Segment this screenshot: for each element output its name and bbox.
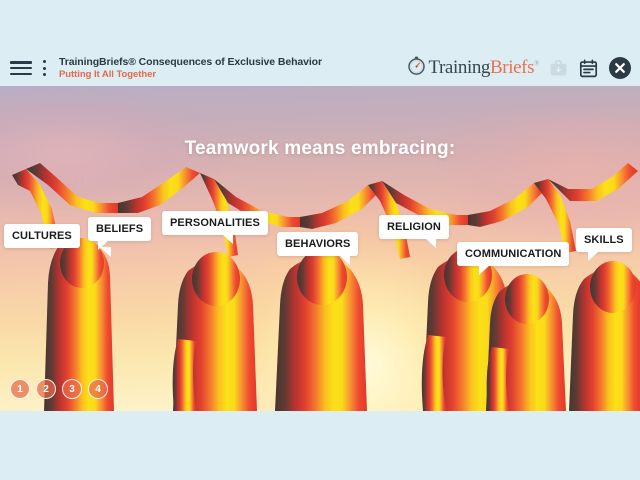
page-dot-label: 1: [17, 384, 23, 395]
speech-bubble-behaviors[interactable]: BEHAVIORS: [277, 232, 358, 256]
stopwatch-icon: [406, 55, 427, 81]
people-silhouettes-illustration: [0, 151, 640, 411]
page-dot-1[interactable]: 1: [10, 379, 30, 399]
speech-bubble-tail: [479, 265, 490, 275]
course-title: TrainingBriefs® Consequences of Exclusiv…: [59, 56, 322, 68]
course-subtitle: Putting It All Together: [59, 69, 322, 80]
hamburger-menu-icon[interactable]: [10, 61, 32, 75]
slide-canvas: Teamwork means embracing:: [0, 86, 640, 411]
course-title-block: TrainingBriefs® Consequences of Exclusiv…: [59, 56, 322, 80]
hamburger-line: [10, 73, 32, 76]
page-dot-label: 3: [69, 384, 75, 395]
speech-bubble-communication[interactable]: COMMUNICATION: [457, 242, 569, 266]
speech-bubble-religion[interactable]: RELIGION: [379, 215, 449, 239]
speech-bubble-tail: [98, 240, 109, 250]
trainingbriefs-logo: TrainingBriefs®: [406, 55, 539, 81]
kebab-dot: [43, 67, 46, 70]
page-dot-2[interactable]: 2: [36, 379, 56, 399]
speech-bubble-label: COMMUNICATION: [465, 248, 561, 260]
page-dot-label: 4: [95, 384, 101, 395]
page-dot-4[interactable]: 4: [88, 379, 108, 399]
brand-word-briefs: Briefs: [490, 57, 534, 78]
speech-bubble-label: BEHAVIORS: [285, 238, 350, 250]
speech-bubble-personalities[interactable]: PERSONALITIES: [162, 211, 268, 235]
close-icon[interactable]: [608, 56, 632, 80]
header-right-group: TrainingBriefs®: [406, 50, 632, 86]
registered-mark: ®: [534, 60, 539, 68]
notes-calendar-icon[interactable]: [578, 58, 599, 79]
page-indicator: 1234: [10, 379, 108, 399]
speech-bubble-cultures[interactable]: CULTURES: [4, 224, 80, 248]
speech-bubble-tail: [339, 255, 350, 265]
hamburger-line: [10, 67, 32, 70]
speech-bubble-label: BELIEFS: [96, 223, 143, 235]
brand-wordmark: TrainingBriefs®: [428, 57, 539, 79]
more-options-icon[interactable]: [38, 60, 50, 76]
course-player: TrainingBriefs® Consequences of Exclusiv…: [0, 0, 640, 480]
speech-bubble-label: PERSONALITIES: [170, 217, 260, 229]
page-dot-3[interactable]: 3: [62, 379, 82, 399]
speech-bubble-tail: [425, 238, 436, 248]
brand-word-training: Training: [428, 57, 490, 78]
player-header: TrainingBriefs® Consequences of Exclusiv…: [0, 0, 640, 86]
speech-bubble-tail: [222, 234, 233, 244]
speech-bubble-skills[interactable]: SKILLS: [576, 228, 632, 252]
kebab-dot: [43, 73, 46, 76]
speech-bubble-label: RELIGION: [387, 221, 441, 233]
speech-bubble-label: SKILLS: [584, 234, 624, 246]
resources-briefcase-icon: [548, 58, 569, 79]
page-dot-label: 2: [43, 384, 49, 395]
speech-bubble-label: CULTURES: [12, 230, 72, 242]
speech-bubble-beliefs[interactable]: BELIEFS: [88, 217, 151, 241]
kebab-dot: [43, 60, 46, 63]
hamburger-line: [10, 61, 32, 64]
speech-bubble-tail: [588, 251, 599, 261]
